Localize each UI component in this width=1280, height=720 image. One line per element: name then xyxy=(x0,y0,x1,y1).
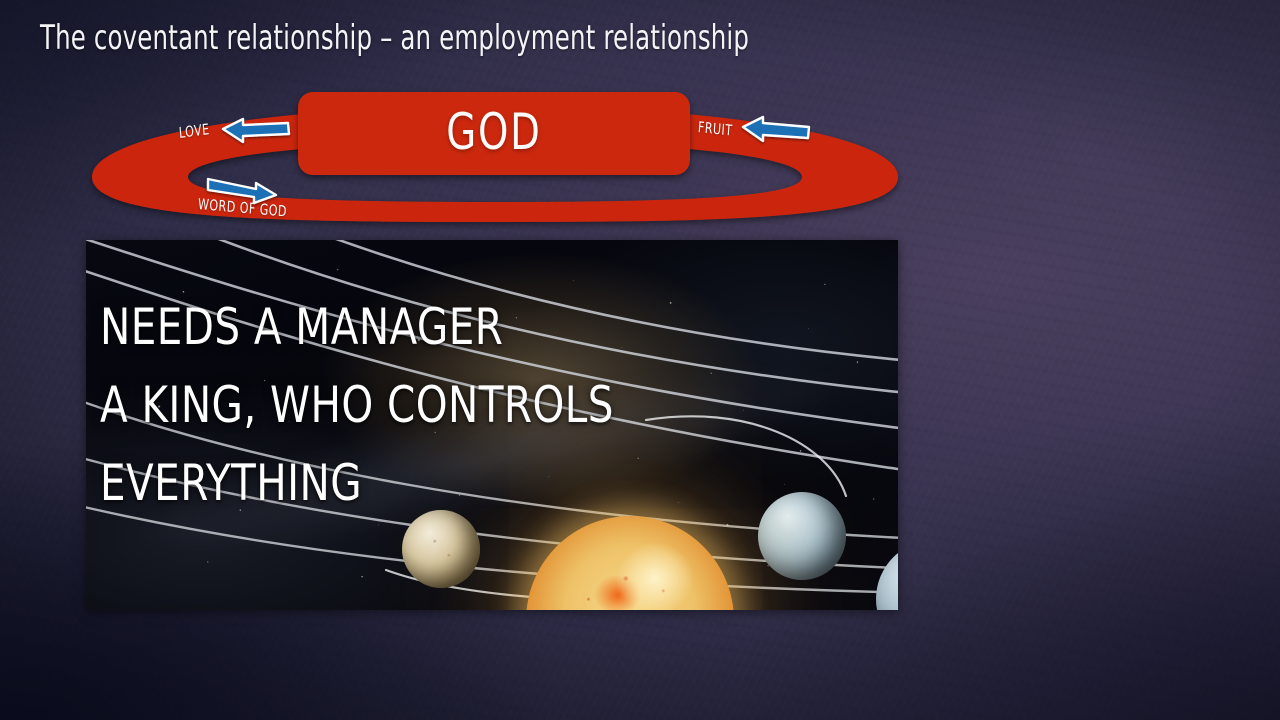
ring-label-fruit: FRUIT xyxy=(697,118,733,140)
slide-title: The coventant relationship – an employme… xyxy=(40,18,749,58)
god-box: GOD xyxy=(298,92,690,175)
planet-pale-blue-upper xyxy=(758,492,846,580)
covenant-cycle-diagram: GOD LOVE FRUIT WORD OF GOD xyxy=(80,80,910,230)
god-box-label: GOD xyxy=(325,92,662,175)
planet-small-tan-moon xyxy=(402,510,480,588)
solar-system-image: NEEDS A MANAGER A KING, WHO CONTROLS EVE… xyxy=(86,240,898,610)
slide-canvas: The coventant relationship – an employme… xyxy=(0,0,1280,720)
